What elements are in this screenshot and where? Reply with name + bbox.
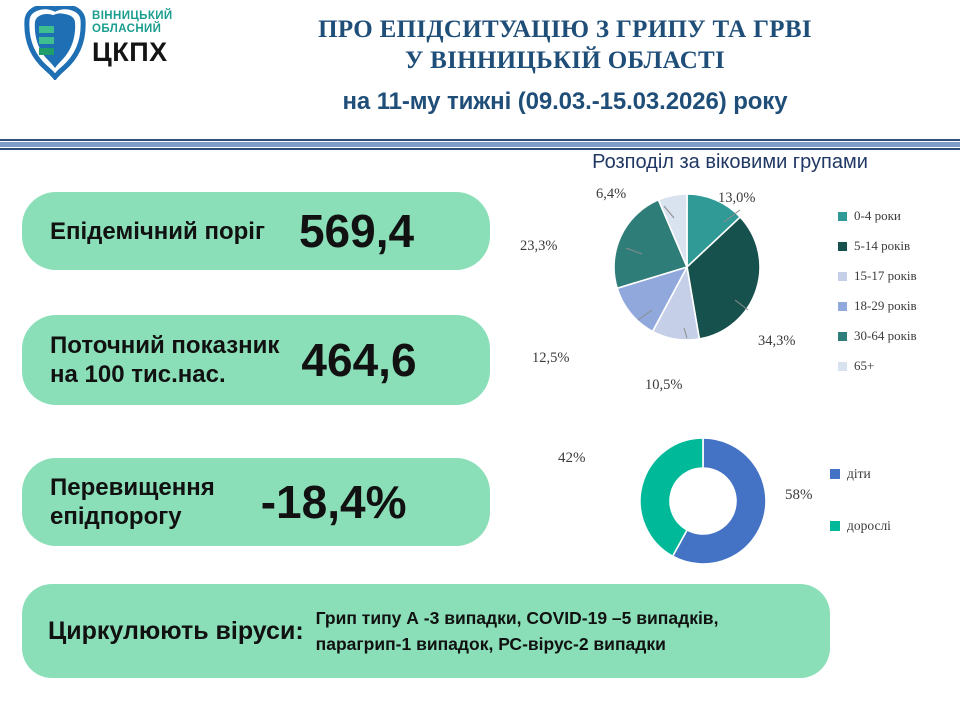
legend-label: 65+ [854,358,874,374]
header: ВІННИЦЬКИЙ ОБЛАСНИЙ ЦКПХ ПРО ЕПІДСИТУАЦІ… [0,0,960,136]
page-title-line-2: У ВІННИЦЬКІЙ ОБЛАСТІ [215,45,915,76]
pie-chart-legend: 0-4 роки5-14 років15-17 років18-29 років… [838,208,917,388]
legend-item-18-29 років[interactable]: 18-29 років [838,298,917,314]
card-viruses-text: Грип типу А -3 випадки, COVID-19 –5 випа… [316,605,771,657]
page-subtitle: на 11-му тижні (09.03.-15.03.2026) року [215,88,915,116]
card-current-label: Поточний показник на 100 тис.нас. [50,331,279,389]
infographic-page: ВІННИЦЬКИЙ ОБЛАСНИЙ ЦКПХ ПРО ЕПІДСИТУАЦІ… [0,0,960,720]
card-circulating-viruses: Циркулюють віруси: Грип типу А -3 випадк… [22,584,830,678]
legend-swatch-icon [838,272,847,281]
card-viruses-label: Циркулюють віруси: [48,617,304,646]
legend-item-30-64 років[interactable]: 30-64 років [838,328,917,344]
card-epidemic-threshold: Епідемічний поріг 569,4 [22,192,490,270]
pie-label-30-64: 23,3% [520,238,557,255]
pie-label-15-17: 10,5% [645,377,682,394]
legend-label: 5-14 років [854,238,910,254]
logo-subline-1: ВІННИЦЬКИЙ [92,10,173,23]
donut-label-children: 58% [785,487,813,504]
legend-item-діти[interactable]: діти [830,466,891,482]
logo-subline-2: ОБЛАСНИЙ [92,23,173,36]
legend-item-15-17 років[interactable]: 15-17 років [838,268,917,284]
legend-label: діти [847,466,871,482]
card-current-rate: Поточний показник на 100 тис.нас. 464,6 [22,315,490,405]
card-excess-label: Перевищення епідпорогу [50,473,215,531]
legend-label: дорослі [847,518,891,534]
donut-svg [638,436,768,566]
legend-swatch-icon [830,521,840,531]
logo-block: ВІННИЦЬКИЙ ОБЛАСНИЙ ЦКПХ [24,6,204,86]
donut-chart-legend: дітидорослі [830,466,891,570]
donut-graphic [638,436,768,566]
header-divider-top [0,139,960,141]
donut-label-adults: 42% [558,450,586,467]
card-current-value: 464,6 [301,336,416,384]
pie-chart-title: Розподіл за віковими групами [520,150,940,174]
legend-item-5-14 років[interactable]: 5-14 років [838,238,917,254]
legend-item-65+[interactable]: 65+ [838,358,917,374]
age-group-pie-chart: Розподіл за віковими групами 13,0% 34,3%… [520,150,960,415]
card-threshold-excess: Перевищення епідпорогу -18,4% [22,458,490,546]
card-threshold-label: Епідемічний поріг [50,217,265,246]
logo-wordmark: ВІННИЦЬКИЙ ОБЛАСНИЙ ЦКПХ [92,10,173,67]
children-adults-donut-chart: 42% 58% дітидорослі [540,430,960,580]
legend-label: 30-64 років [854,328,917,344]
card-threshold-value: 569,4 [299,207,414,255]
legend-label: 18-29 років [854,298,917,314]
legend-label: 0-4 роки [854,208,901,224]
pie-label-18-29: 12,5% [532,350,569,367]
pie-svg [612,192,762,342]
shield-heart-logo-icon [24,6,86,80]
card-excess-value: -18,4% [261,478,407,526]
legend-swatch-icon [830,469,840,479]
legend-swatch-icon [838,242,847,251]
page-title-line-1: ПРО ЕПІДСИТУАЦІЮ З ГРИПУ ТА ГРВІ [215,14,915,45]
pie-graphic [612,192,762,342]
legend-swatch-icon [838,362,847,371]
legend-swatch-icon [838,332,847,341]
logo-main-text: ЦКПХ [92,37,173,67]
legend-label: 15-17 років [854,268,917,284]
pie-label-0-4: 13,0% [718,190,755,207]
legend-swatch-icon [838,302,847,311]
legend-item-0-4 роки[interactable]: 0-4 роки [838,208,917,224]
pie-label-5-14: 34,3% [758,333,795,350]
header-divider-band [0,142,960,147]
legend-item-дорослі[interactable]: дорослі [830,518,891,534]
legend-swatch-icon [838,212,847,221]
title-block: ПРО ЕПІДСИТУАЦІЮ З ГРИПУ ТА ГРВІ У ВІННИ… [215,14,915,116]
pie-label-65plus: 6,4% [596,186,626,203]
